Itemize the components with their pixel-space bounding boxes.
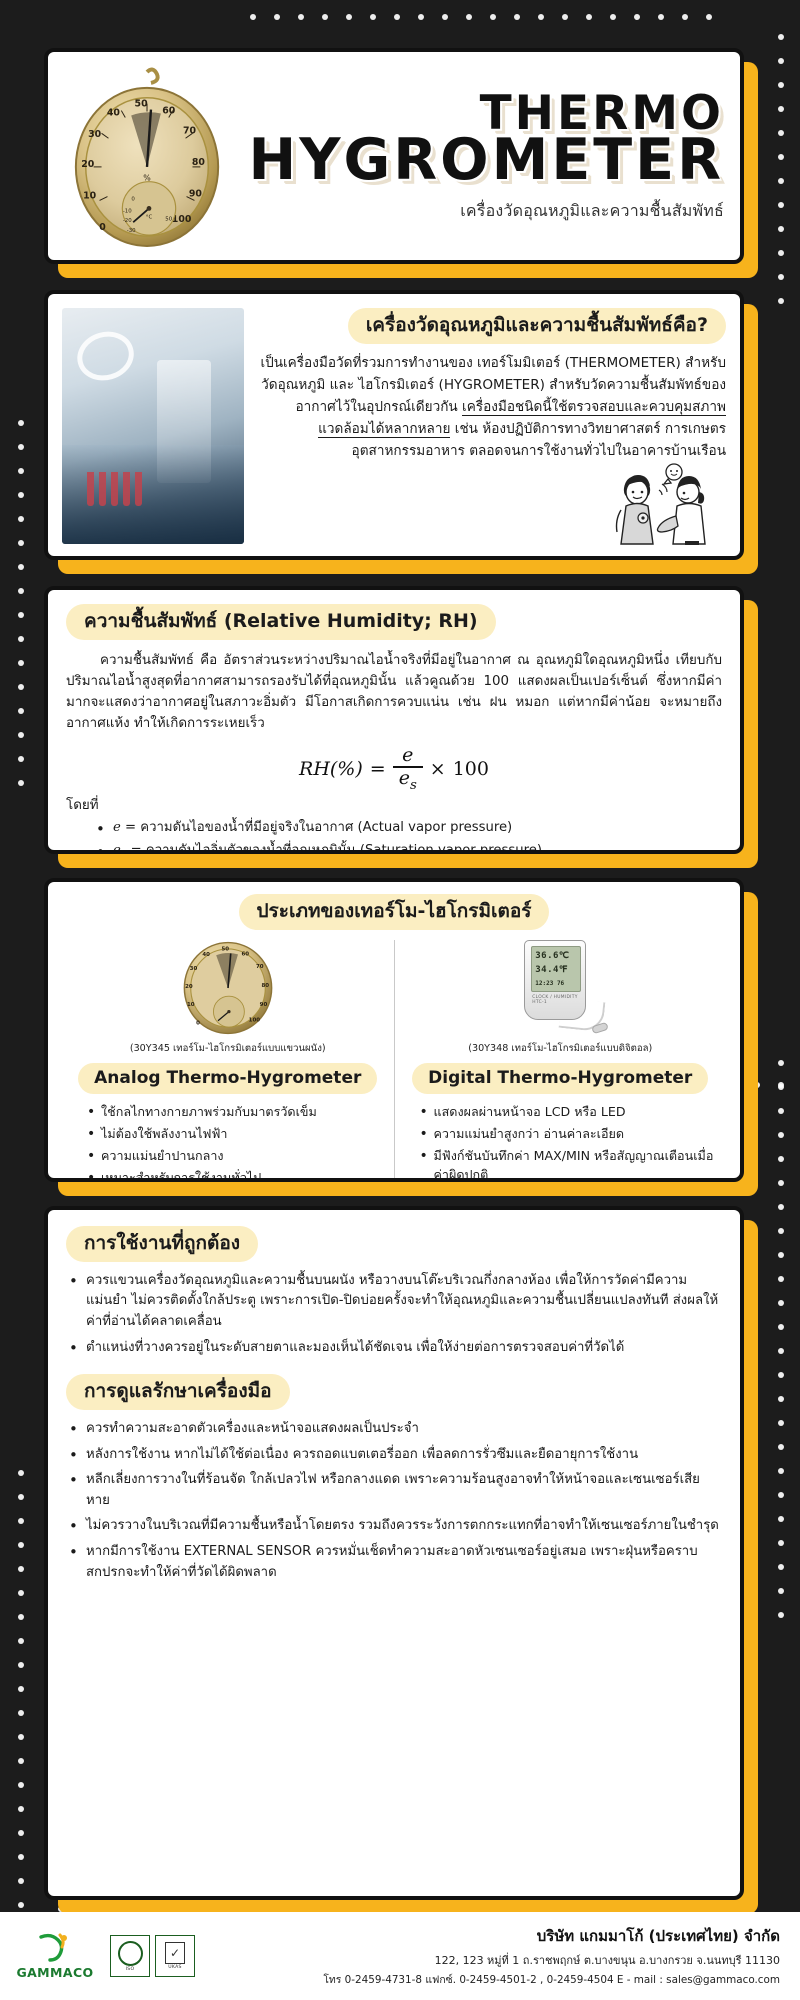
iso-cert-badge: ISO (110, 1935, 150, 1977)
list-item: แสดงผลผ่านหน้าจอ LCD หรือ LED (419, 1103, 715, 1122)
rh-term-text: = ความดันไอของน้ำที่มีอยู่จริงในอากาศ (A… (121, 820, 512, 835)
types-column-digital: 36.6℃ 34.4℉ 12:23 76 CLOCK / HUMIDITYHTC… (395, 940, 727, 1182)
analog-title: Analog Thermo-Hygrometer (78, 1063, 377, 1094)
usage-bullets: ควรแขวนเครื่องวัดอุณหภูมิและความชื้นบนผน… (66, 1271, 722, 1358)
list-item: ตำแหน่งที่วางควรอยู่ในระดับสายตาและมองเห… (66, 1338, 722, 1359)
list-item: ควรทำความสะอาดตัวเครื่องและหน้าจอแสดงผลเ… (66, 1419, 722, 1440)
svg-text:40: 40 (107, 108, 121, 119)
rh-formula: RH(%) = e es × 100 (66, 746, 722, 792)
title-subtitle: เครื่องวัดอุณหภูมิและความชื้นสัมพัทธ์ (249, 199, 724, 224)
decor-dots-right-b (778, 1060, 784, 1618)
list-item: หากมีการใช้งาน EXTERNAL SENSOR ควรหมั่นเ… (66, 1542, 722, 1583)
svg-text:30: 30 (189, 966, 197, 972)
svg-text:70: 70 (256, 964, 264, 970)
svg-text:40: 40 (202, 952, 210, 958)
digital-title: Digital Thermo-Hygrometer (412, 1063, 708, 1094)
footer-contact-block: บริษัท แกมมาโก้ (ประเทศไทย) จำกัด 122, 1… (195, 1924, 786, 1988)
list-item: หลีกเลี่ยงการวางในที่ร้อนจัด ใกล้เปลวไฟ … (66, 1470, 722, 1511)
svg-text:20: 20 (185, 984, 193, 990)
rh-term-symbol: e (113, 820, 121, 835)
analog-caption: (30Y345 เทอร์โม-ไฮโกรมิเตอร์แบบแขวนผนัง) (130, 1041, 326, 1056)
two-people-talking-icon (602, 462, 722, 548)
digital-caption: (30Y348 เทอร์โม-ไฮโกรมิเตอร์แบบดิจิตอล) (468, 1041, 652, 1056)
svg-text:20: 20 (81, 159, 95, 170)
formula-lhs: RH(%) (299, 758, 363, 780)
digital-display-line-3: 12:23 76 (535, 980, 577, 987)
definition-heading: เครื่องวัดอุณหภูมิและความชื้นสัมพัทธ์คือ… (348, 308, 726, 344)
formula-times: × (430, 758, 446, 780)
analog-hygrometer-icon: 01020 304050 607080 90100 (178, 940, 278, 1036)
footer: GAMMACO ISO ✓ UKAS บริษัท แกมมาโก้ (ประเ… (0, 1912, 800, 2000)
rh-paragraph: ความชื้นสัมพัทธ์ คือ อัตราส่วนระหว่างปริ… (66, 650, 722, 735)
decor-dots-left-c (18, 1470, 24, 1932)
rh-term-symbol: es (113, 843, 126, 854)
rh-where-label: โดยที่ (66, 794, 722, 815)
digital-hygrometer-icon: 36.6℃ 34.4℉ 12:23 76 CLOCK / HUMIDITYHTC… (514, 940, 606, 1036)
logo-wordmark: GAMMACO (16, 1965, 93, 1980)
list-item: ความแม่นยำปานกลาง (86, 1147, 382, 1166)
svg-text:90: 90 (259, 1002, 267, 1008)
list-item: ไม่ควรวางในบริเวณที่มีความชื้นหรือน้ำโดย… (66, 1516, 722, 1537)
definition-card: เครื่องวัดอุณหภูมิและความชื้นสัมพัทธ์คือ… (44, 290, 744, 560)
analog-product-image: 01020 304050 607080 90100 (178, 940, 278, 1036)
digital-display-line-1: 36.6℃ (535, 951, 577, 961)
types-column-analog: 01020 304050 607080 90100 (3 (62, 940, 395, 1182)
svg-text:90: 90 (189, 189, 203, 200)
maintenance-bullets: ควรทำความสะอาดตัวเครื่องและหน้าจอแสดงผลเ… (66, 1419, 722, 1583)
decor-dots-left-a (18, 420, 24, 786)
svg-text:-30: -30 (127, 228, 136, 234)
svg-text:10: 10 (187, 1002, 195, 1008)
analog-bullets: ใช้กลไกทางกายภาพร่วมกับมาตรวัดเข็ม ไม่ต้… (74, 1103, 382, 1182)
list-item: หลังการใช้งาน หากไม่ได้ใช้ต่อเนื่อง ควรถ… (66, 1445, 722, 1466)
analog-gauge-hero: 0 10 20 30 40 50 60 70 80 90 100 (48, 64, 249, 252)
header-title-block: THERMO HYGROMETER เครื่องวัดอุณหภูมิและค… (249, 92, 740, 225)
types-card: ประเภทของเทอร์โม-ไฮโกรมิเตอร์ (44, 878, 744, 1182)
iso-cert-caption: ISO (126, 1967, 135, 1972)
svg-text:0: 0 (132, 196, 136, 202)
rh-terms-list: e = ความดันไอของน้ำที่มีอยู่จริงในอากาศ … (96, 817, 722, 854)
list-item: ควรแขวนเครื่องวัดอุณหภูมิและความชื้นบนผน… (66, 1271, 722, 1333)
svg-text:50: 50 (166, 216, 173, 222)
ukas-cert-badge: ✓ UKAS (155, 1935, 195, 1977)
list-item: ใช้กลไกทางกายภาพร่วมกับมาตรวัดเข็ม (86, 1103, 382, 1122)
analog-hygrometer-icon: 0 10 20 30 40 50 60 70 80 90 100 (64, 64, 232, 252)
svg-text:60: 60 (241, 951, 249, 957)
company-logo: GAMMACO (14, 1933, 96, 1980)
svg-text:80: 80 (261, 983, 269, 989)
rh-term-e: e = ความดันไอของน้ำที่มีอยู่จริงในอากาศ … (96, 817, 722, 840)
rh-heading: ความชื้นสัมพัทธ์ (Relative Humidity; RH) (66, 604, 496, 640)
decor-dots-right-a (778, 34, 784, 304)
svg-text:100: 100 (248, 1017, 260, 1023)
svg-text:80: 80 (192, 157, 206, 168)
laboratory-photo (62, 308, 244, 544)
list-item: ไม่ต้องใช้พลังงานไฟฟ้า (86, 1125, 382, 1144)
digital-product-image: 36.6℃ 34.4℉ 12:23 76 CLOCK / HUMIDITYHTC… (514, 940, 606, 1036)
svg-text:0: 0 (100, 222, 107, 233)
list-item: มีฟังก์ชันบันทึกค่า MAX/MIN หรือสัญญาณเต… (419, 1147, 715, 1182)
svg-text:10: 10 (83, 191, 97, 202)
header-card: 0 10 20 30 40 50 60 70 80 90 100 (44, 48, 744, 264)
formula-numerator: e (396, 746, 419, 766)
relative-humidity-card: ความชื้นสัมพัทธ์ (Relative Humidity; RH)… (44, 586, 744, 854)
gammaco-logo-icon (35, 1933, 75, 1963)
digital-bullets: แสดงผลผ่านหน้าจอ LCD หรือ LED ความแม่นยำ… (407, 1103, 715, 1182)
svg-text:60: 60 (162, 106, 176, 117)
footer-company-name: บริษัท แกมมาโก้ (ประเทศไทย) จำกัด (195, 1924, 780, 1948)
rh-term-es: es = ความดันไออิ่มตัวของน้ำที่อุณหภูมินั… (96, 840, 722, 854)
maintenance-heading: การดูแลรักษาเครื่องมือ (66, 1374, 290, 1410)
list-item: เหมาะสำหรับการใช้งานทั่วไป (86, 1169, 382, 1182)
svg-text:°C: °C (146, 214, 153, 220)
definition-paragraph: เป็นเครื่องมือวัดที่รวมการทำงานของ เทอร์… (258, 352, 726, 462)
usage-heading: การใช้งานที่ถูกต้อง (66, 1226, 258, 1262)
rh-term-text: = ความดันไออิ่มตัวของน้ำที่อุณหภูมินั้น … (126, 843, 542, 854)
ukas-cert-caption: UKAS (168, 1965, 182, 1970)
types-heading: ประเภทของเทอร์โม-ไฮโกรมิเตอร์ (239, 894, 550, 930)
digital-display-line-2: 34.4℉ (535, 965, 577, 975)
footer-address: 122, 123 หมู่ที่ 1 ถ.ราชพฤกษ์ ต.บางขนุน … (195, 1951, 780, 1969)
formula-fraction: e es (393, 746, 423, 792)
formula-denominator: es (393, 768, 423, 792)
svg-text:50: 50 (135, 99, 149, 110)
svg-text:30: 30 (88, 129, 102, 140)
svg-text:-10: -10 (123, 208, 132, 214)
formula-factor: 100 (453, 758, 489, 780)
svg-text:50: 50 (221, 947, 229, 953)
list-item: ความแม่นยำสูงกว่า อ่านค่าละเอียด (419, 1125, 715, 1144)
svg-text:-20: -20 (123, 218, 132, 224)
title-line-2: HYGROMETER (249, 134, 724, 188)
decor-dots-top (250, 14, 712, 20)
usage-maintenance-card: การใช้งานที่ถูกต้อง ควรแขวนเครื่องวัดอุณ… (44, 1206, 744, 1900)
svg-text:0: 0 (196, 1020, 200, 1026)
formula-equals: = (370, 758, 386, 780)
footer-contact: โทร 0-2459-4731-8 แฟกซ์. 0-2459-4501-2 ,… (195, 1971, 780, 1988)
certification-badges: ISO ✓ UKAS (110, 1935, 195, 1977)
